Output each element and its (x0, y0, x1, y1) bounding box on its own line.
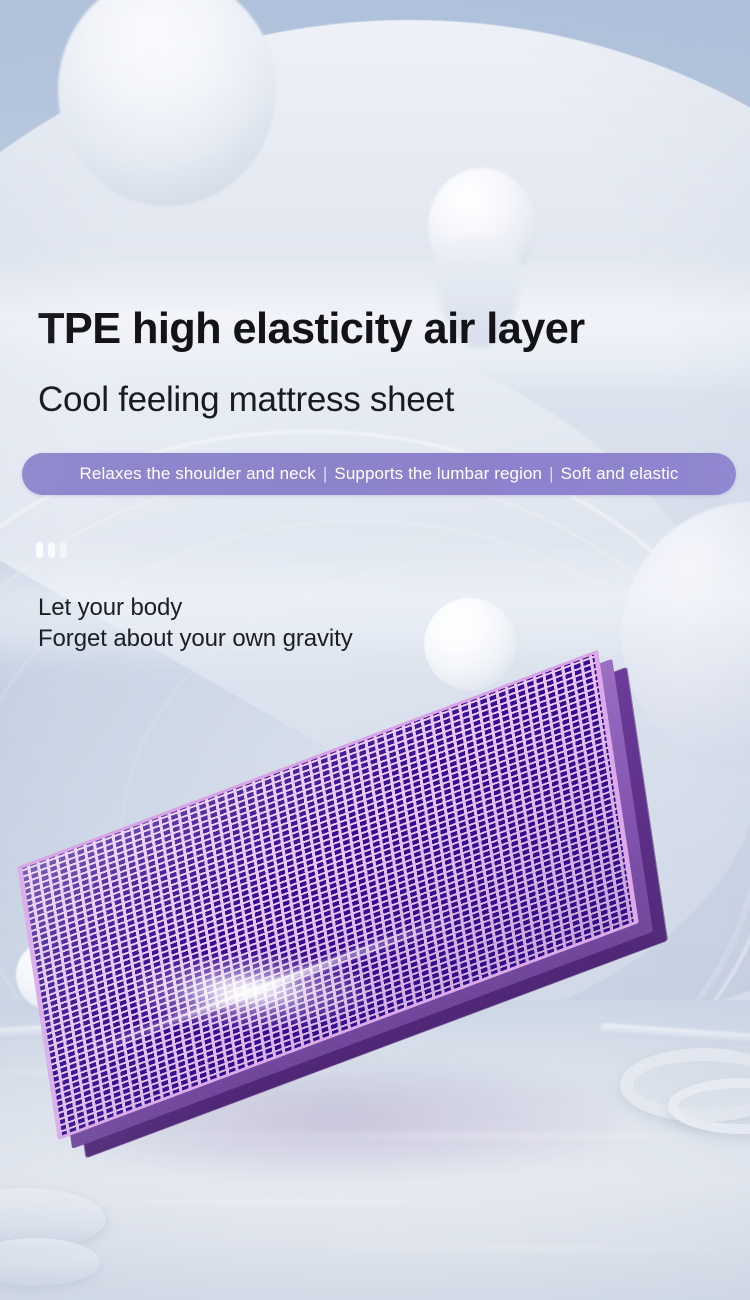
product-image (0, 630, 750, 1210)
tagline-block: Let your body Forget about your own grav… (38, 592, 353, 654)
product-banner: TPE high elasticity air layer Cool feeli… (0, 0, 750, 1300)
badge-feature-2: Supports the lumbar region (334, 464, 542, 484)
badge-feature-3: Soft and elastic (561, 464, 679, 484)
page-subtitle: Cool feeling mattress sheet (38, 378, 454, 422)
page-title: TPE high elasticity air layer (38, 303, 728, 355)
tagline-line-1: Let your body (38, 592, 353, 623)
floor-reflection-4 (300, 1247, 750, 1250)
badge-separator-2: | (549, 464, 554, 484)
badge-feature-1: Relaxes the shoulder and neck (80, 464, 316, 484)
dot-indicator-group (36, 542, 67, 558)
badge-separator-1: | (323, 464, 328, 484)
dot-indicator-3 (60, 542, 67, 558)
feature-badge: Relaxes the shoulder and neck | Supports… (22, 453, 736, 495)
dot-indicator-1 (36, 542, 43, 558)
dot-indicator-2 (48, 542, 55, 558)
tagline-line-2: Forget about your own gravity (38, 623, 353, 654)
